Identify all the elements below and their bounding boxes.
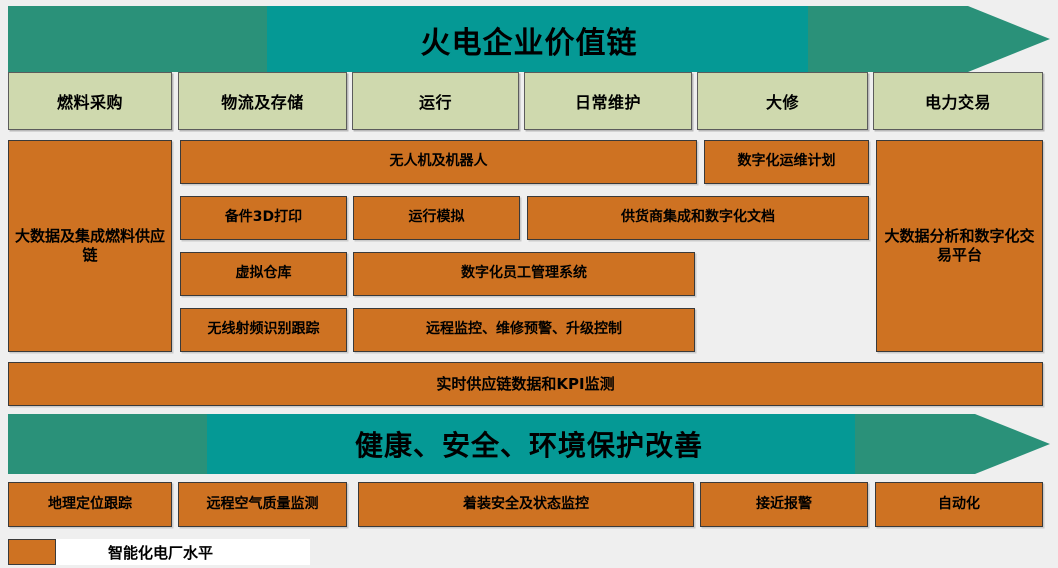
value-chain-stage-overhaul[interactable]: 大修 <box>697 72 868 130</box>
capability-label: 无人机及机器人 <box>390 153 488 171</box>
diagram-canvas: 火电企业价值链 燃料采购 物流及存储 运行 日常维护 大修 电力交易 大数据及集… <box>0 0 1058 568</box>
capability-left-column-big-data-fuel-supply-chain[interactable]: 大数据及集成燃料供应链 <box>8 140 172 352</box>
bottom-banner: 健康、安全、环境保护改善 <box>8 414 1050 474</box>
capability-virtual-warehouse[interactable]: 虚拟仓库 <box>180 252 347 296</box>
bottom-item-label: 接近报警 <box>756 496 812 514</box>
value-chain-stage-label: 大修 <box>766 89 799 113</box>
legend-color-swatch <box>8 539 56 565</box>
top-banner-title: 火电企业价值链 <box>8 18 1050 62</box>
value-chain-stage-label: 运行 <box>419 89 452 113</box>
bottom-item-geolocation-tracking[interactable]: 地理定位跟踪 <box>8 482 172 527</box>
bottom-item-label: 地理定位跟踪 <box>48 496 132 514</box>
bottom-item-proximity-alarm[interactable]: 接近报警 <box>700 482 868 527</box>
bottom-item-ppe-safety-status-monitoring[interactable]: 着装安全及状态监控 <box>358 482 694 527</box>
capability-drones-and-robots[interactable]: 无人机及机器人 <box>180 140 697 184</box>
legend-label: 智能化电厂水平 <box>108 539 213 565</box>
capability-spare-parts-3d-printing[interactable]: 备件3D打印 <box>180 196 347 240</box>
capability-supplier-integration-digital-docs[interactable]: 供货商集成和数字化文档 <box>527 196 869 240</box>
capability-label: 数字化运维计划 <box>738 153 836 171</box>
value-chain-stage-operation[interactable]: 运行 <box>352 72 519 130</box>
capability-label: 数字化员工管理系统 <box>461 265 587 283</box>
capability-label: 实时供应链数据和KPI监测 <box>436 375 614 394</box>
capability-operation-simulation[interactable]: 运行模拟 <box>353 196 520 240</box>
bottom-item-label: 自动化 <box>938 496 980 514</box>
capability-label: 备件3D打印 <box>225 209 302 227</box>
capability-rfid-tracking[interactable]: 无线射频识别跟踪 <box>180 308 347 352</box>
bottom-item-label: 远程空气质量监测 <box>207 496 319 514</box>
capability-label: 远程监控、维修预警、升级控制 <box>426 321 622 339</box>
top-banner: 火电企业价值链 <box>8 6 1050 72</box>
value-chain-stage-label: 电力交易 <box>925 89 991 113</box>
capability-remote-monitoring-maintenance-alert-upgrade-control[interactable]: 远程监控、维修预警、升级控制 <box>353 308 695 352</box>
value-chain-stage-logistics-storage[interactable]: 物流及存储 <box>178 72 347 130</box>
bottom-item-remote-air-quality-monitoring[interactable]: 远程空气质量监测 <box>178 482 347 527</box>
value-chain-stage-daily-maintenance[interactable]: 日常维护 <box>524 72 692 130</box>
capability-label: 虚拟仓库 <box>236 265 292 283</box>
bottom-item-label: 着装安全及状态监控 <box>463 496 589 514</box>
value-chain-stage-fuel-procurement[interactable]: 燃料采购 <box>8 72 172 130</box>
value-chain-stage-power-trading[interactable]: 电力交易 <box>873 72 1043 130</box>
value-chain-stage-label: 物流及存储 <box>221 89 304 113</box>
capability-label: 大数据分析和数字化交易平台 <box>881 227 1038 265</box>
capability-digital-om-plan[interactable]: 数字化运维计划 <box>704 140 869 184</box>
capability-label: 运行模拟 <box>409 209 465 227</box>
value-chain-stage-label: 燃料采购 <box>57 89 123 113</box>
capability-digital-staff-management-system[interactable]: 数字化员工管理系统 <box>353 252 695 296</box>
capability-label: 大数据及集成燃料供应链 <box>13 227 167 265</box>
capability-label: 供货商集成和数字化文档 <box>621 209 775 227</box>
value-chain-stage-label: 日常维护 <box>575 89 641 113</box>
bottom-item-automation[interactable]: 自动化 <box>875 482 1043 527</box>
bottom-banner-title: 健康、安全、环境保护改善 <box>8 424 1050 464</box>
capability-realtime-supply-chain-kpi-monitoring[interactable]: 实时供应链数据和KPI监测 <box>8 362 1043 406</box>
capability-right-column-big-data-analytics-trading-platform[interactable]: 大数据分析和数字化交易平台 <box>876 140 1043 352</box>
capability-label: 无线射频识别跟踪 <box>208 321 320 339</box>
